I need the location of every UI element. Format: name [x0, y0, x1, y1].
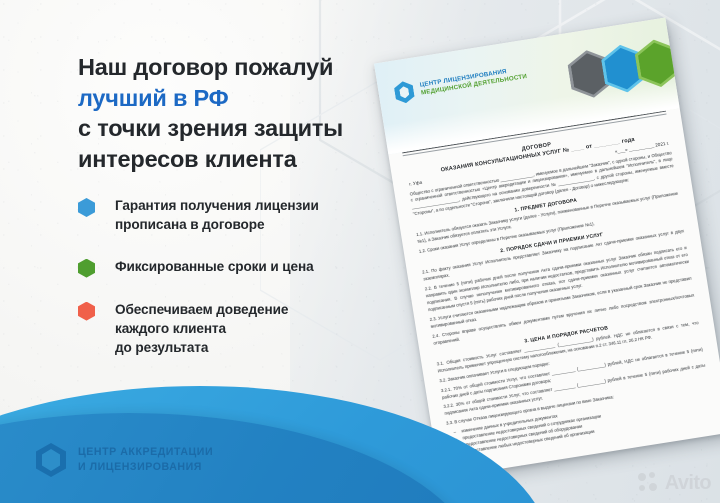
list-item: Гарантия получения лицензиипрописана в д… — [78, 196, 398, 235]
headline-line-4: интересов клиента — [78, 144, 408, 175]
document-body: Общество с ограниченной ответственностью… — [394, 142, 720, 460]
headline-line-1: Наш договор пожалуй — [78, 52, 408, 83]
list-item-label: Гарантия получения лицензиипрописана в д… — [115, 196, 319, 235]
headline-line-3: с точки зрения защиты — [78, 113, 408, 144]
document-logo: ЦЕНТР ЛИЦЕНЗИРОВАНИЯ МЕДИЦИНСКОЙ ДЕЯТЕЛЬ… — [393, 62, 528, 105]
benefits-list: Гарантия получения лицензиипрописана в д… — [78, 196, 398, 379]
list-item-label: Фиксированные сроки и цена — [115, 257, 314, 276]
page-title: Наш договор пожалуй лучший в РФ с точки … — [78, 52, 408, 174]
hexagon-blue-icon — [78, 198, 95, 217]
headline-line-2-accent: лучший в РФ — [78, 83, 408, 114]
hexagon-outline-icon — [36, 443, 66, 477]
brand-logo: ЦЕНТР АККРЕДИТАЦИИ И ЛИЦЕНЗИРОВАНИЯ — [36, 443, 213, 477]
hexagon-logo-icon — [393, 80, 415, 105]
brand-line-2: И ЛИЦЕНЗИРОВАНИЯ — [78, 460, 213, 475]
document-hexagon-row — [574, 36, 682, 99]
promo-banner: Наш договор пожалуй лучший в РФ с точки … — [0, 0, 720, 503]
list-item: Фиксированные сроки и цена — [78, 257, 398, 278]
brand-line-1: ЦЕНТР АККРЕДИТАЦИИ — [78, 445, 213, 460]
list-item-label: Обеспечиваем доведениекаждого клиентадо … — [115, 300, 288, 358]
avito-watermark: Avito — [638, 472, 711, 494]
avito-wordmark: Avito — [665, 473, 711, 493]
avito-dots-icon — [638, 472, 662, 494]
list-item: Обеспечиваем доведениекаждого клиентадо … — [78, 300, 398, 358]
hexagon-green-icon — [78, 259, 95, 278]
hexagon-coral-icon — [78, 302, 95, 321]
